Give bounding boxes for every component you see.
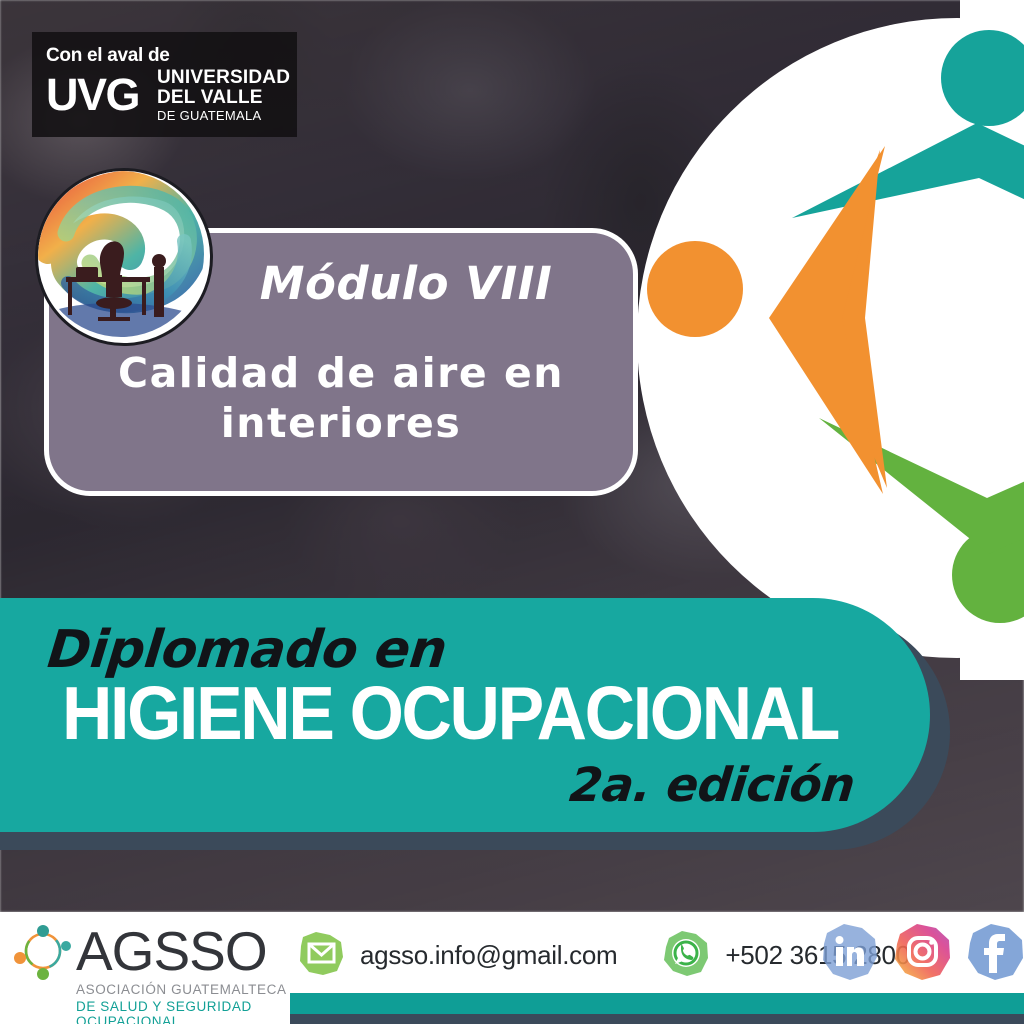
whatsapp-icon[interactable] bbox=[661, 928, 711, 983]
agsso-wordmark: AGSSO bbox=[76, 924, 267, 979]
uvg-lockup: UVG UNIVERSIDAD DEL VALLE DE GUATEMALA bbox=[46, 68, 287, 122]
uvg-name-line1: UNIVERSIDAD bbox=[157, 68, 290, 87]
agsso-subtitle-line1: ASOCIACIÓN GUATEMALTECA bbox=[76, 982, 294, 997]
email-address[interactable]: agsso.info@gmail.com bbox=[360, 940, 617, 971]
banner-text-group: Diplomado en HIGIENE OCUPACIONAL 2a. edi… bbox=[0, 598, 950, 832]
footer-teal-bar bbox=[290, 993, 1024, 1014]
promotional-poster: Con el aval de UVG UNIVERSIDAD DEL VALLE… bbox=[0, 0, 1024, 1024]
emblem-dot-teal bbox=[941, 30, 1024, 126]
social-links bbox=[818, 920, 1024, 988]
emblem-chevron-orange-2 bbox=[769, 146, 885, 494]
linkedin-icon[interactable] bbox=[818, 920, 881, 988]
uvg-accreditation-badge: Con el aval de UVG UNIVERSIDAD DEL VALLE… bbox=[32, 32, 297, 137]
module-title-line1: Calidad de aire en bbox=[49, 348, 633, 398]
uvg-prefix: Con el aval de bbox=[46, 46, 287, 65]
banner-line-edition: 2a. edición bbox=[567, 758, 857, 813]
agsso-emblem bbox=[637, 18, 1024, 658]
banner-line-title: HIGIENE OCUPACIONAL bbox=[62, 676, 838, 751]
uvg-name-line2: DEL VALLE bbox=[157, 88, 290, 107]
agsso-lockup: AGSSO bbox=[14, 922, 294, 980]
module-title-line2: interiores bbox=[49, 398, 633, 448]
email-icon[interactable] bbox=[296, 928, 346, 983]
emblem-dot-orange bbox=[647, 241, 743, 337]
uvg-wordmark: UVG bbox=[46, 74, 148, 115]
agsso-logo: AGSSO ASOCIACIÓN GUATEMALTECA DE SALUD Y… bbox=[14, 922, 294, 1020]
agsso-mark-icon bbox=[14, 922, 72, 980]
uvg-university-name: UNIVERSIDAD DEL VALLE DE GUATEMALA bbox=[157, 68, 290, 122]
instagram-icon[interactable] bbox=[891, 920, 954, 988]
watercolor-desk-badge-icon bbox=[35, 168, 213, 346]
facebook-icon[interactable] bbox=[964, 920, 1024, 988]
uvg-name-line3: DE GUATEMALA bbox=[157, 109, 290, 122]
module-title: Calidad de aire en interiores bbox=[49, 348, 633, 448]
agsso-subtitle-line2: DE SALUD Y SEGURIDAD OCUPACIONAL bbox=[76, 999, 294, 1024]
footer-navy-bar bbox=[290, 1014, 1024, 1024]
